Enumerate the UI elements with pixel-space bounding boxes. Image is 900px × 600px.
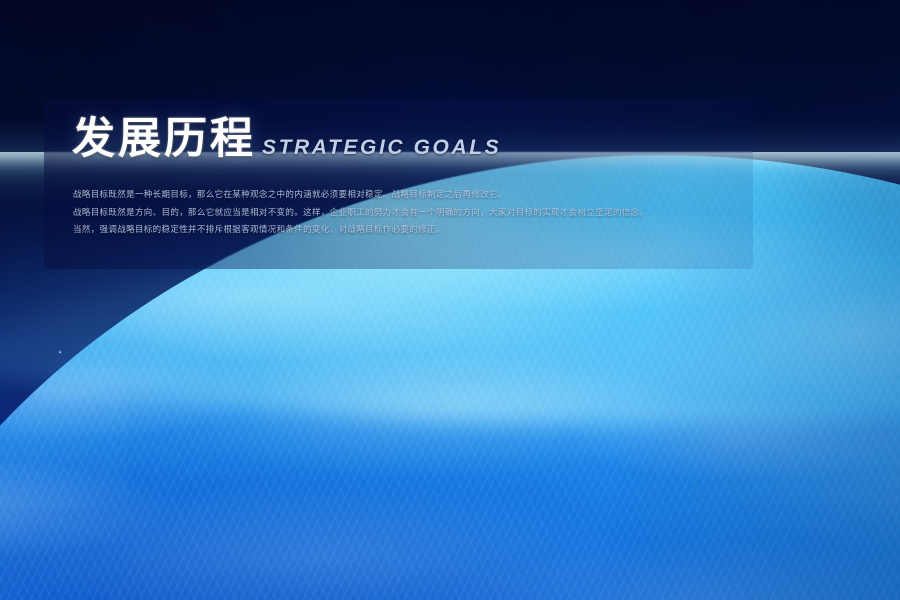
text-overlay-panel: 发展历程 STRATEGIC GOALS 战略目标既然是一种长期目标，那么它在某… [44, 99, 753, 269]
banner-heading: 发展历程 STRATEGIC GOALS [72, 118, 501, 161]
description-line: 战略目标既然是方向、目的，那么它就应当是相对不变的。这样，企业职工的努力才会有一… [73, 205, 753, 223]
description-line: 战略目标既然是一种长期目标，那么它在某种观念之中的内涵就必须要相对稳定。战略目标… [73, 187, 753, 205]
description-line: 当然，强调战略目标的稳定性并不排斥根据客观情况和条件的变化，对战略目标作必要的修… [73, 222, 753, 240]
space-sky-background [0, 0, 900, 600]
banner-stage: 发展历程 STRATEGIC GOALS 战略目标既然是一种长期目标，那么它在某… [0, 0, 900, 600]
page-subtitle: STRATEGIC GOALS [262, 136, 501, 160]
page-title: 发展历程 [72, 118, 256, 161]
description-paragraph: 战略目标既然是一种长期目标，那么它在某种观念之中的内涵就必须要相对稳定。战略目标… [73, 187, 753, 240]
